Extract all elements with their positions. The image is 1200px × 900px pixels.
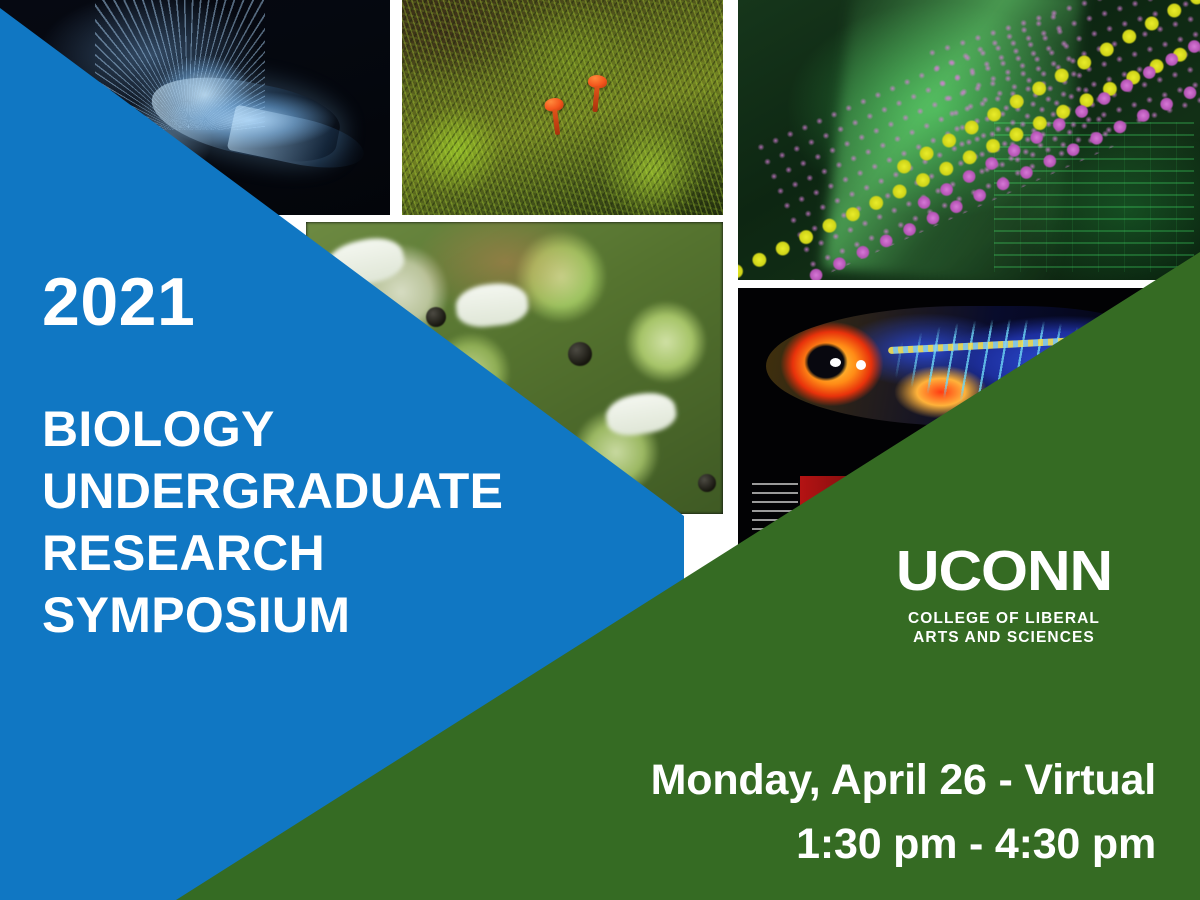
event-details: Monday, April 26 - Virtual 1:30 pm - 4:3… [651, 748, 1156, 876]
mushroom-stem [592, 86, 599, 112]
title-line-4: SYMPOSIUM [42, 584, 503, 646]
uconn-tagline: COLLEGE OF LIBERAL ARTS AND SCIENCES [889, 609, 1119, 647]
dna-helix-photo [738, 0, 1200, 280]
page-title: BIOLOGY UNDERGRADUATE RESEARCH SYMPOSIUM [42, 398, 503, 646]
egg-dark-spot [426, 307, 446, 327]
title-line-2: UNDERGRADUATE [42, 460, 503, 522]
zebrafish-marker-dot [830, 358, 841, 367]
uconn-wordmark: UCONN [882, 543, 1126, 600]
event-time-line: 1:30 pm - 4:30 pm [651, 812, 1156, 876]
egg-dark-spot [698, 474, 716, 492]
uconn-tagline-line-1: COLLEGE OF LIBERAL [889, 609, 1119, 628]
mushroom-stem [552, 109, 560, 135]
symposium-poster: 2021 BIOLOGY UNDERGRADUATE RESEARCH SYMP… [0, 0, 1200, 900]
zebrafish-rib-bones [888, 318, 1156, 414]
event-date-line: Monday, April 26 - Virtual [651, 748, 1156, 812]
mushroom-right [585, 74, 607, 113]
year-heading: 2021 [42, 268, 195, 336]
egg-dark-spot [568, 342, 592, 366]
title-line-1: BIOLOGY [42, 398, 503, 460]
moss-mushrooms-photo [402, 0, 723, 215]
zebrafish-marker-dot [856, 360, 866, 370]
uconn-tagline-line-2: ARTS AND SCIENCES [889, 628, 1119, 647]
title-line-3: RESEARCH [42, 522, 503, 584]
uconn-logo: UCONN COLLEGE OF LIBERAL ARTS AND SCIENC… [889, 543, 1119, 647]
heatmap-row-labels [742, 476, 798, 581]
larval-fish-photo [0, 0, 390, 215]
